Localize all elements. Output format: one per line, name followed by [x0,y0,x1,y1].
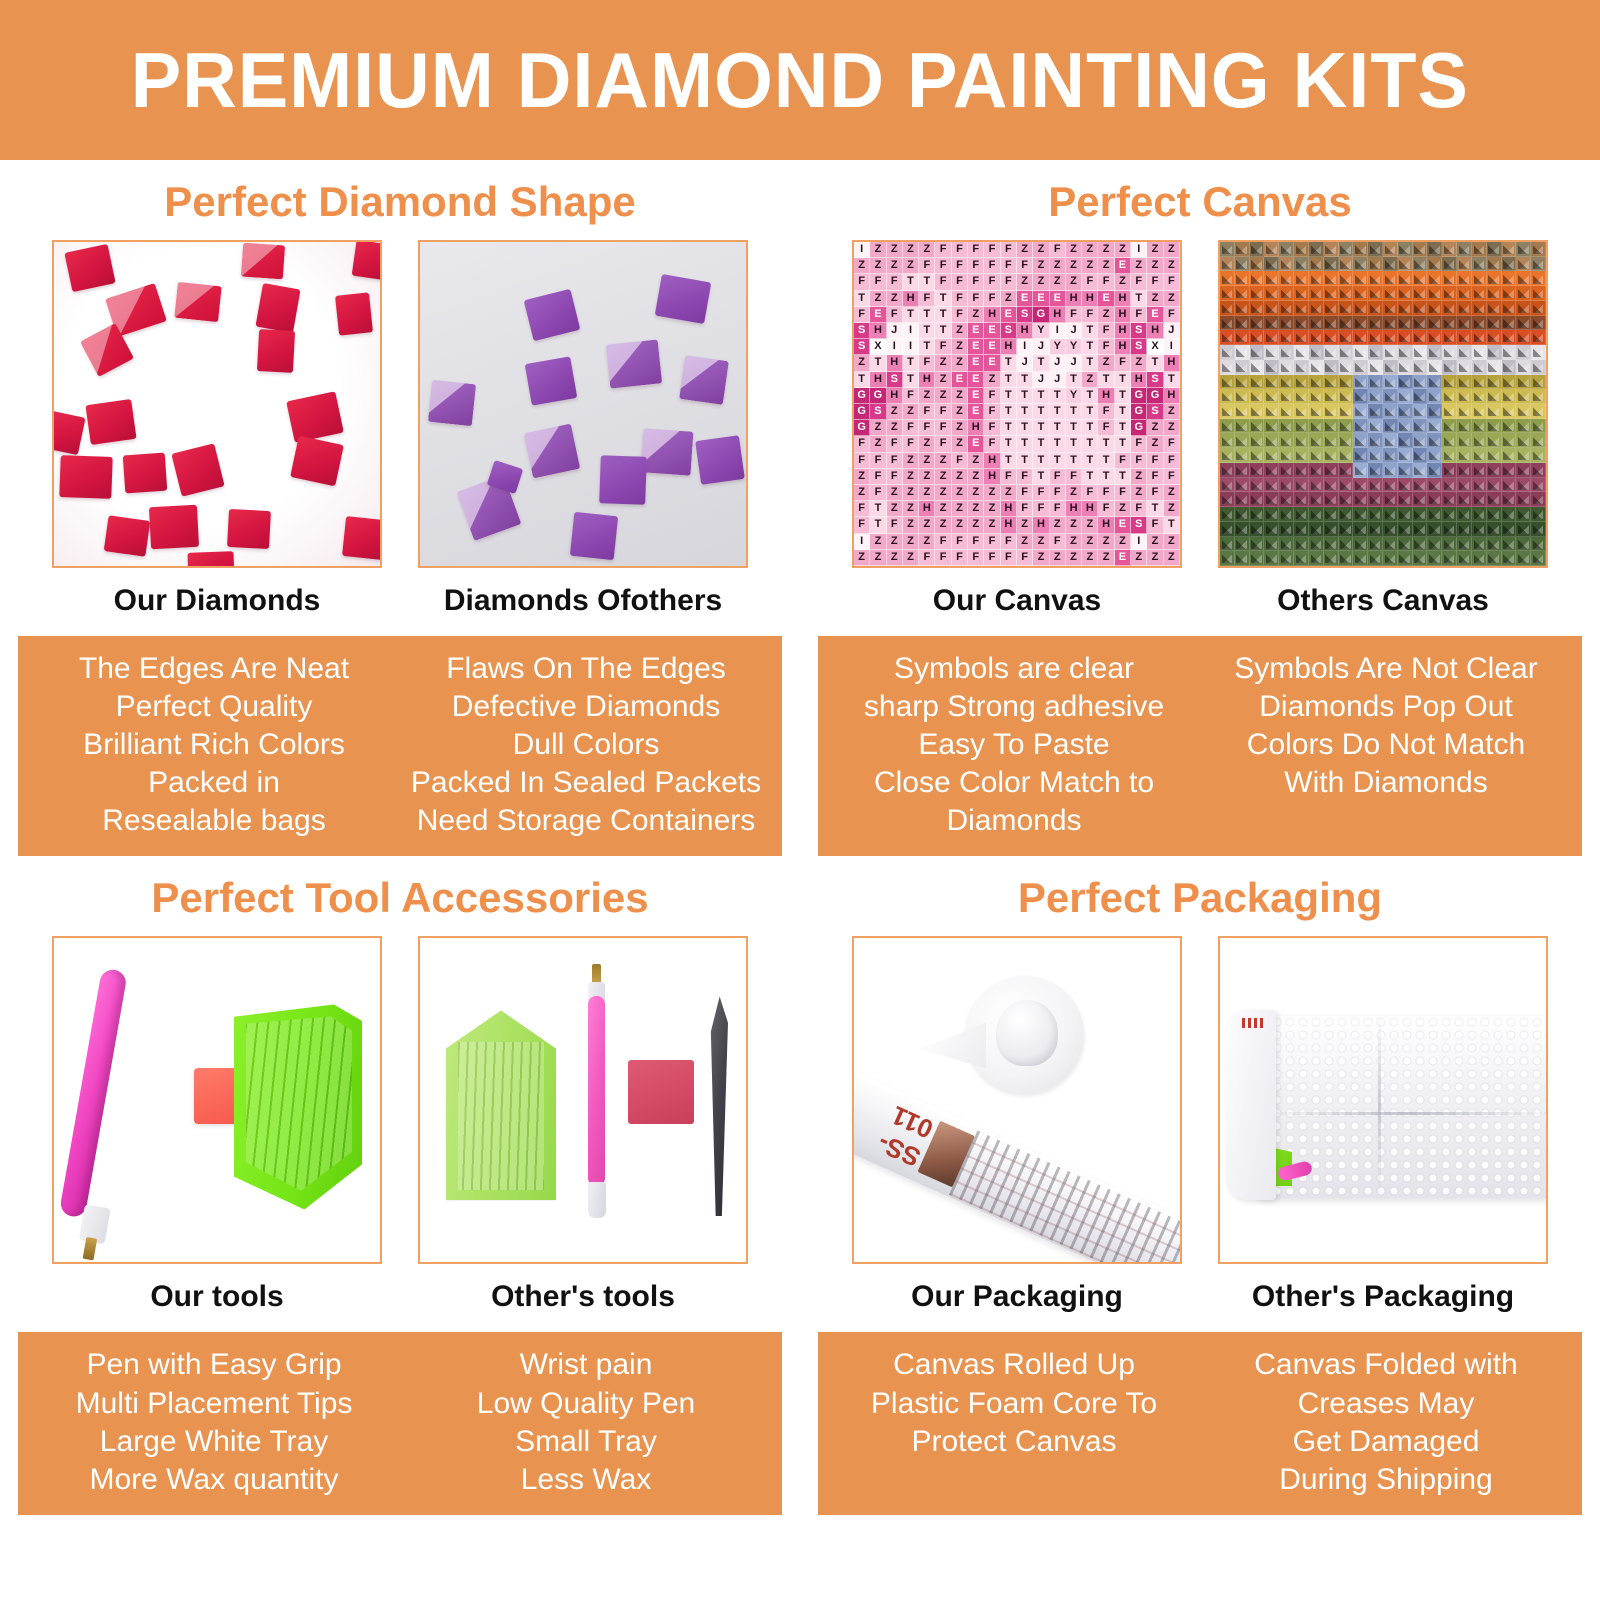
canvas-printed-cell [1487,330,1502,345]
canvas-printed-cell [1487,448,1502,463]
canvas-symbol-cell: F [968,550,984,566]
canvas-symbol-cell: F [968,291,984,307]
canvas-printed-cell [1457,492,1472,507]
canvas-symbol-cell: J [1164,323,1180,339]
canvas-printed-cell [1457,330,1472,345]
canvas-symbol-cell: F [952,258,968,274]
canvas-symbol-cell: Z [919,453,935,469]
canvas-symbol-cell: H [1001,517,1017,533]
canvas-symbol-cell: Z [984,501,1000,517]
canvas-printed-cell [1235,492,1250,507]
canvas-symbol-cell: T [1115,469,1131,485]
canvas-printed-cell [1339,419,1354,434]
canvas-printed-cell [1502,492,1517,507]
canvas-printed-cell [1383,330,1398,345]
canvas-printed-cell [1368,330,1383,345]
canvas-printed-cell [1398,522,1413,537]
canvas-symbol-cell: T [1033,453,1049,469]
canvas-printed-cell [1457,286,1472,301]
canvas-symbol-cell: F [854,501,870,517]
canvas-printed-cell [1294,345,1309,360]
canvas-symbol-cell: F [952,534,968,550]
canvas-symbol-cell: J [887,323,903,339]
canvas-printed-cell [1516,330,1531,345]
canvas-printed-cell [1279,345,1294,360]
canvas-printed-cell [1427,316,1442,331]
canvas-printed-cell [1442,271,1457,286]
canvas-printed-cell [1279,433,1294,448]
canvas-printed-cell [1220,404,1235,419]
panel-line: Wrist pain [520,1346,653,1384]
canvas-symbol-cell: F [984,242,1000,258]
canvas-symbol-cell: F [952,291,968,307]
card-our-canvas: IZZZZFFFFFZZFZZZZIZZZZZZFFFFFFFZZZZZEZZZ… [852,240,1182,630]
canvas-symbol-cell: T [1001,404,1017,420]
canvas-symbol-cell: Z [968,517,984,533]
canvas-printed-cell [1324,404,1339,419]
canvas-printed-cell [1264,330,1279,345]
canvas-printed-cell [1487,301,1502,316]
canvas-printed-cell [1442,478,1457,493]
canvas-printed-cell [1294,375,1309,390]
canvas-symbol-cell: T [1033,404,1049,420]
canvas-symbol-cell: Z [1017,274,1033,290]
canvas-symbol-cell: H [1164,355,1180,371]
canvas-symbol-cell: E [870,307,886,323]
canvas-printed-cell [1309,271,1324,286]
photo-others-packaging [1218,936,1548,1264]
canvas-printed-cell [1531,448,1546,463]
canvas-symbol-cell: F [935,550,951,566]
canvas-printed-cell [1516,537,1531,552]
canvas-printed-cell [1383,360,1398,375]
canvas-symbol-cell: T [1050,453,1066,469]
canvas-printed-cell [1413,492,1428,507]
canvas-printed-cell [1487,419,1502,434]
canvas-printed-cell [1250,551,1265,566]
canvas-symbol-cell: T [1082,436,1098,452]
canvas-printed-cell [1398,360,1413,375]
canvas-printed-cell [1279,316,1294,331]
canvas-printed-cell [1487,463,1502,478]
canvas-printed-cell [1235,478,1250,493]
canvas-symbol-cell: Z [903,453,919,469]
canvas-symbol-cell: I [1131,534,1147,550]
canvas-symbol-cell: T [1050,388,1066,404]
canvas-printed-cell [1413,448,1428,463]
canvas-printed-cell [1472,242,1487,257]
canvas-printed-cell [1324,345,1339,360]
canvas-symbol-cell: F [919,420,935,436]
panel-line: More Wax quantity [90,1461,339,1499]
canvas-printed-cell [1353,360,1368,375]
photo-our-tools [52,936,382,1264]
canvas-printed-cell [1250,316,1265,331]
canvas-symbol-cell: Z [1098,355,1114,371]
canvas-symbol-cell: E [968,436,984,452]
canvas-symbol-cell: F [968,258,984,274]
canvas-symbol-cell: Z [854,485,870,501]
canvas-printed-cell [1442,404,1457,419]
canvas-printed-cell [1472,478,1487,493]
canvas-symbol-cell: F [952,274,968,290]
canvas-symbol-cell: G [854,404,870,420]
canvas-printed-cell [1339,360,1354,375]
canvas-symbol-cell: Z [935,485,951,501]
canvas-printed-cell [1250,286,1265,301]
canvas-symbol-cell: Z [887,501,903,517]
canvas-printed-cell [1413,316,1428,331]
canvas-printed-cell [1472,507,1487,522]
canvas-symbol-cell: F [854,453,870,469]
canvas-printed-cell [1487,242,1502,257]
canvas-symbol-cell: Z [935,372,951,388]
panel-tools: Pen with Easy Grip Multi Placement Tips … [18,1332,782,1514]
canvas-printed-cell [1279,551,1294,566]
canvas-symbol-cell: Z [968,485,984,501]
panel-canvas: Symbols are clear sharp Strong adhesive … [818,636,1582,856]
card-our-tools: Our tools [52,936,382,1326]
canvas-printed-cell [1398,537,1413,552]
canvas-symbol-cell: I [1164,339,1180,355]
canvas-printed-cell [1235,551,1250,566]
panel-line: Canvas Folded with [1254,1346,1517,1384]
canvas-symbol-cell: F [984,404,1000,420]
canvas-printed-cell [1472,463,1487,478]
canvas-symbol-cell: F [854,517,870,533]
canvas-symbol-cell: T [870,355,886,371]
canvas-printed-cell [1502,463,1517,478]
canvas-printed-cell [1516,551,1531,566]
canvas-printed-cell [1516,463,1531,478]
canvas-symbol-cell: S [887,372,903,388]
canvas-printed-cell [1368,463,1383,478]
canvas-symbol-cell: Z [903,485,919,501]
canvas-printed-cell [1264,537,1279,552]
pink-pen-barrel-icon [59,968,128,1219]
canvas-printed-cell [1353,271,1368,286]
canvas-symbol-cell: F [1050,534,1066,550]
canvas-printed-cell [1279,257,1294,272]
page-title: PREMIUM DIAMOND PAINTING KITS [131,35,1469,126]
canvas-printed-cell [1235,404,1250,419]
canvas-symbol-cell: Z [1098,258,1114,274]
canvas-symbol-cell: Z [854,469,870,485]
canvas-printed-cell [1398,316,1413,331]
canvas-symbol-cell: F [984,258,1000,274]
canvas-symbol-cell: T [870,501,886,517]
canvas-symbol-cell: H [984,453,1000,469]
canvas-symbol-cell: Z [952,469,968,485]
canvas-printed-cell [1398,507,1413,522]
canvas-printed-cell [1339,522,1354,537]
canvas-symbol-cell: S [1131,339,1147,355]
canvas-printed-cell [1442,448,1457,463]
canvas-printed-cell [1487,404,1502,419]
canvas-printed-cell [1264,316,1279,331]
canvas-printed-cell [1457,301,1472,316]
canvas-printed-cell [1368,492,1383,507]
panel-line: Brilliant Rich Colors [83,726,345,764]
canvas-printed-cell [1264,492,1279,507]
canvas-printed-cell [1487,375,1502,390]
photo-our-diamonds [52,240,382,568]
canvas-printed-cell [1383,537,1398,552]
panel-canvas-others: Symbols Are Not Clear Diamonds Pop Out C… [1200,650,1572,840]
canvas-printed-cell [1442,463,1457,478]
canvas-symbol-cell: H [1115,307,1131,323]
canvas-symbol-cell: Z [1001,485,1017,501]
canvas-symbol-cell: Z [903,258,919,274]
canvas-symbol-cell: T [1098,453,1114,469]
canvas-printed-cell [1413,389,1428,404]
canvas-symbol-cell: Z [887,550,903,566]
panel-line: Diamonds [946,802,1081,840]
canvas-symbol-cell: Z [935,355,951,371]
canvas-symbol-cell: H [1017,323,1033,339]
canvas-symbol-cell: F [887,453,903,469]
canvas-symbol-cell: F [1001,469,1017,485]
canvas-printed-cell [1457,271,1472,286]
canvas-symbol-cell: Z [1066,242,1082,258]
canvas-printed-cell [1457,257,1472,272]
canvas-symbol-cell: F [1017,485,1033,501]
canvas-symbol-cell: Z [1147,258,1163,274]
tweezers-icon [706,996,728,1216]
canvas-symbol-cell: F [952,550,968,566]
canvas-symbol-cell: E [1098,291,1114,307]
canvas-printed-cell [1324,463,1339,478]
canvas-printed-cell [1457,242,1472,257]
canvas-symbol-cell: H [1115,339,1131,355]
canvas-printed-cell [1235,301,1250,316]
canvas-symbol-cell: Z [887,420,903,436]
canvas-printed-cell [1383,375,1398,390]
card-others-packaging: Other's Packaging [1218,936,1548,1326]
canvas-symbol-cell: Z [854,550,870,566]
canvas-printed-cell [1220,433,1235,448]
section-diamond-shape: Perfect Diamond Shape [0,160,800,856]
caption-our-packaging: Our Packaging [852,1264,1182,1326]
canvas-printed-cell [1324,242,1339,257]
canvas-printed-cell [1353,433,1368,448]
canvas-symbol-cell: G [1033,307,1049,323]
canvas-symbol-cell: Y [1066,339,1082,355]
canvas-printed-cell [1309,478,1324,493]
canvas-printed-cell [1220,537,1235,552]
canvas-symbol-cell: T [1017,404,1033,420]
photo-our-packaging: SS-011 [852,936,1182,1264]
canvas-symbol-cell: Z [870,534,886,550]
panel-line: Close Color Match to [874,764,1154,802]
canvas-printed-cell [1220,360,1235,375]
canvas-printed-cell [1383,404,1398,419]
canvas-printed-cell [1442,257,1457,272]
canvas-printed-cell [1472,316,1487,331]
canvas-symbol-cell: T [1082,420,1098,436]
canvas-symbol-cell: T [1147,501,1163,517]
canvas-symbol-cell: F [1098,274,1114,290]
canvas-symbol-cell: T [1001,388,1017,404]
canvas-printed-cell [1294,286,1309,301]
canvas-symbol-cell: Z [919,436,935,452]
canvas-printed-cell [1309,522,1324,537]
caption-our-canvas: Our Canvas [852,568,1182,630]
canvas-symbol-cell: F [1001,274,1017,290]
canvas-symbol-cell: E [984,355,1000,371]
canvas-symbol-cell: H [1066,291,1082,307]
canvas-printed-cell [1457,537,1472,552]
canvas-printed-cell [1250,537,1265,552]
panel-line: During Shipping [1279,1461,1492,1499]
canvas-printed-cell [1324,448,1339,463]
canvas-printed-cell [1235,463,1250,478]
canvas-symbol-cell: E [1001,307,1017,323]
canvas-symbol-cell: T [1033,420,1049,436]
canvas-symbol-cell: F [984,420,1000,436]
canvas-symbol-cell: Z [903,501,919,517]
canvas-symbol-cell: Z [952,485,968,501]
canvas-symbol-cell: F [1098,485,1114,501]
panel-line: Colors Do Not Match [1247,726,1525,764]
canvas-symbol-cell: H [887,355,903,371]
canvas-printed-cell [1502,404,1517,419]
canvas-printed-cell [1531,360,1546,375]
canvas-symbol-cell: T [1098,436,1114,452]
canvas-printed-cell [1516,360,1531,375]
our-packaging-illustration: SS-011 [854,938,1180,1262]
canvas-symbol-cell: Z [887,242,903,258]
canvas-symbol-cell: T [1017,436,1033,452]
canvas-symbol-cell: T [919,274,935,290]
canvas-symbol-cell: H [887,388,903,404]
canvas-printed-cell [1353,463,1368,478]
canvas-symbol-cell: T [854,372,870,388]
canvas-symbol-cell: Z [952,436,968,452]
canvas-printed-cell [1279,463,1294,478]
canvas-symbol-cell: T [1098,372,1114,388]
canvas-printed-cell [1502,375,1517,390]
card-our-diamonds: Our Diamonds [52,240,382,630]
canvas-printed-cell [1516,271,1531,286]
canvas-symbol-cell: F [1147,453,1163,469]
panel-diamond-shape-others: Flaws On The Edges Defective Diamonds Du… [400,650,772,840]
canvas-symbol-cell: E [968,355,984,371]
canvas-symbol-cell: H [1001,339,1017,355]
canvas-printed-cell [1442,551,1457,566]
small-wax-square-icon [628,1060,694,1124]
canvas-symbol-cell: E [984,339,1000,355]
photo-others-canvas [1218,240,1548,568]
canvas-symbol-cell: H [1164,388,1180,404]
red-diamonds-illustration [54,242,380,566]
canvas-printed-cell [1457,345,1472,360]
canvas-symbol-cell: Z [935,453,951,469]
canvas-symbol-cell: F [984,388,1000,404]
canvas-printed-cell [1383,286,1398,301]
canvas-printed-cell [1294,433,1309,448]
canvas-printed-cell [1516,257,1531,272]
canvas-printed-cell [1264,375,1279,390]
canvas-printed-cell [1457,389,1472,404]
canvas-symbol-cell: Z [984,485,1000,501]
canvas-symbol-cell: F [1001,550,1017,566]
canvas-printed-cell [1442,345,1457,360]
canvas-symbol-cell: Z [1050,258,1066,274]
panel-diamond-shape: The Edges Are Neat Perfect Quality Brill… [18,636,782,856]
canvas-symbol-cell: F [935,534,951,550]
canvas-printed-cell [1502,419,1517,434]
canvas-printed-cell [1309,375,1324,390]
caption-others-tools: Other's tools [418,1264,748,1326]
canvas-symbol-cell: F [903,436,919,452]
canvas-printed-cell [1427,286,1442,301]
canvas-printed-cell [1324,389,1339,404]
canvas-printed-cell [1368,507,1383,522]
canvas-printed-cell [1368,301,1383,316]
canvas-printed-cell [1235,375,1250,390]
canvas-printed-cell [1309,537,1324,552]
canvas-symbol-cell: Z [1164,534,1180,550]
canvas-symbol-cell: Z [870,242,886,258]
card-others-diamonds: Diamonds Ofothers [418,240,748,630]
canvas-printed-cell [1383,551,1398,566]
canvas-symbol-cell: F [1164,307,1180,323]
canvas-symbol-cell: Z [1098,550,1114,566]
canvas-symbol-cell: Z [1147,242,1163,258]
canvas-printed-cell [1531,375,1546,390]
canvas-printed-cell [1250,419,1265,434]
canvas-printed-cell [1220,257,1235,272]
canvas-printed-cell [1531,404,1546,419]
canvas-printed-cell [1309,448,1324,463]
canvas-printed-cell [1413,257,1428,272]
panel-canvas-ours: Symbols are clear sharp Strong adhesive … [828,650,1200,840]
canvas-symbol-cell: G [854,388,870,404]
canvas-symbol-cell: F [854,436,870,452]
canvas-symbol-cell: F [1050,501,1066,517]
canvas-printed-cell [1339,389,1354,404]
canvas-printed-cell [1339,271,1354,286]
canvas-printed-cell [1353,389,1368,404]
canvas-printed-cell [1516,507,1531,522]
canvas-symbol-cell: Z [1131,485,1147,501]
canvas-printed-cell [1294,330,1309,345]
canvas-printed-cell [1353,330,1368,345]
canvas-printed-cell [1413,330,1428,345]
canvas-printed-cell [1220,242,1235,257]
canvas-symbol-cell: H [968,420,984,436]
canvas-symbol-cell: F [1001,258,1017,274]
canvas-printed-cell [1398,286,1413,301]
canvas-printed-cell [1531,389,1546,404]
canvas-printed-cell [1427,404,1442,419]
canvas-printed-cell [1487,257,1502,272]
canvas-printed-cell [1279,404,1294,419]
canvas-symbol-cell: Z [1033,242,1049,258]
canvas-printed-cell [1250,433,1265,448]
canvas-symbol-cell: Z [1017,242,1033,258]
canvas-printed-cell [1502,551,1517,566]
canvas-symbol-cell: F [1050,242,1066,258]
canvas-symbol-cell: I [1050,323,1066,339]
thin-pen-nib-icon [592,964,601,984]
canvas-symbol-cell: F [1164,436,1180,452]
canvas-printed-cell [1457,522,1472,537]
canvas-printed-cell [1324,522,1339,537]
canvas-symbol-cell: T [1033,355,1049,371]
canvas-symbol-cell: Z [1033,534,1049,550]
